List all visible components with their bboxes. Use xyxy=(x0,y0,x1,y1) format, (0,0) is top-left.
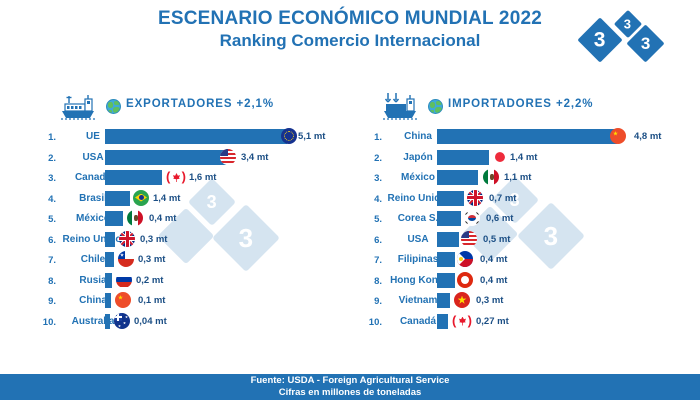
rank: 2. xyxy=(34,153,56,164)
rank: 9. xyxy=(360,296,382,307)
table-row[interactable]: 1. UE 5,1 mt xyxy=(34,128,354,149)
flag-icon-eu xyxy=(281,128,297,144)
value-label: 1,4 mt xyxy=(153,193,180,204)
value-bar xyxy=(437,314,448,329)
logo-digit: 3 xyxy=(594,30,606,51)
value-bar xyxy=(437,170,478,185)
value-label: 0,3 mt xyxy=(138,254,165,265)
flag-icon-jp xyxy=(494,152,505,163)
value-label: 0,7 mt xyxy=(489,193,516,204)
value-label: 1,1 mt xyxy=(504,172,531,183)
value-label: 0,4 mt xyxy=(480,254,507,265)
flag-icon-ph xyxy=(457,251,473,267)
rank: 3. xyxy=(34,173,56,184)
flag-icon-mx xyxy=(127,210,143,226)
importers-header: IMPORTADORES +2,2% xyxy=(362,92,692,124)
flag-icon-kr xyxy=(464,210,480,226)
flag-icon-uk xyxy=(119,231,135,247)
exporters-rows: 1. UE 5,1 mt 2. USA 3,4 mt 3. Canadá () … xyxy=(34,128,354,333)
logo-digit: 3 xyxy=(624,17,631,30)
rank: 6. xyxy=(360,235,382,246)
value-bar xyxy=(437,232,459,247)
table-row[interactable]: 7. Chile 0,3 mt xyxy=(34,251,354,272)
table-row[interactable]: 5. Corea S. 0,6 mt xyxy=(362,210,692,231)
value-label: 4,8 mt xyxy=(634,131,661,142)
value-bar xyxy=(105,252,114,267)
value-bar xyxy=(105,314,110,329)
value-bar xyxy=(437,150,489,165)
table-row[interactable]: 4. Brasil 1,4 mt xyxy=(34,190,354,211)
flag-icon-ru xyxy=(116,272,132,288)
value-bar xyxy=(437,211,461,226)
value-label: 0,4 mt xyxy=(480,275,507,286)
value-bar xyxy=(105,191,130,206)
footer-band: Fuente: USDA - Foreign Agricultural Serv… xyxy=(0,374,700,400)
rank: 2. xyxy=(360,153,382,164)
value-bar xyxy=(105,150,227,165)
rank: 9. xyxy=(34,296,56,307)
table-row[interactable]: 6. USA 0,5 mt xyxy=(362,231,692,252)
flag-icon-us xyxy=(461,231,477,247)
rank: 4. xyxy=(34,194,56,205)
value-bar xyxy=(105,170,162,185)
value-bar xyxy=(437,252,455,267)
table-row[interactable]: 2. Japón 1,4 mt xyxy=(362,149,692,170)
rank: 10. xyxy=(360,317,382,328)
exporters-panel: EXPORTADORES +2,1% 1. UE 5,1 mt 2. USA 3… xyxy=(34,92,354,333)
value-bar xyxy=(437,293,450,308)
table-row[interactable]: 6. Reino Unido 0,3 mt xyxy=(34,231,354,252)
importers-panel: IMPORTADORES +2,2% 1. China 4,8 mt 2. Ja… xyxy=(362,92,692,333)
flag-icon-uk xyxy=(467,190,483,206)
flag-icon-hk xyxy=(457,272,473,288)
value-label: 1,6 mt xyxy=(189,172,216,183)
value-label: 0,6 mt xyxy=(486,213,513,224)
rank: 5. xyxy=(34,214,56,225)
table-row[interactable]: 9. China 0,1 mt xyxy=(34,292,354,313)
infographic-page: ESCENARIO ECONÓMICO MUNDIAL 2022 Ranking… xyxy=(0,0,700,400)
table-row[interactable]: 8. Rusia 0,2 mt xyxy=(34,272,354,293)
value-bar xyxy=(105,129,287,144)
rank: 7. xyxy=(360,255,382,266)
flag-icon-mx xyxy=(483,169,499,185)
table-row[interactable]: 2. USA 3,4 mt xyxy=(34,149,354,170)
footer-note: Cifras en millones de toneladas xyxy=(279,387,422,399)
table-row[interactable]: 1. China 4,8 mt xyxy=(362,128,692,149)
rank: 6. xyxy=(34,235,56,246)
value-label: 0,2 mt xyxy=(136,275,163,286)
importers-title: IMPORTADORES +2,2% xyxy=(448,98,593,110)
rank: 10. xyxy=(34,317,56,328)
cargo-ship-loading-icon xyxy=(58,91,98,121)
brand-logo: 3 3 3 xyxy=(582,10,678,66)
table-row[interactable]: 10. Canadá () 0,27 mt xyxy=(362,313,692,334)
importers-rows: 1. China 4,8 mt 2. Japón 1,4 mt 3. Méxic… xyxy=(362,128,692,333)
value-label: 0,1 mt xyxy=(138,295,165,306)
flag-icon-vn xyxy=(454,292,470,308)
table-row[interactable]: 7. Filipinas 0,4 mt xyxy=(362,251,692,272)
flag-icon-ca: () xyxy=(452,314,472,328)
value-bar xyxy=(437,273,455,288)
flag-icon-cn xyxy=(115,292,131,308)
table-row[interactable]: 4. Reino Unido 0,7 mt xyxy=(362,190,692,211)
rank: 7. xyxy=(34,255,56,266)
flag-icon-au xyxy=(114,313,130,329)
rank: 1. xyxy=(34,132,56,143)
exporters-title: EXPORTADORES +2,1% xyxy=(126,98,274,110)
flag-icon-cl xyxy=(118,251,134,267)
value-label: 0,5 mt xyxy=(483,234,510,245)
globe-icon xyxy=(428,99,443,114)
value-label: 0,3 mt xyxy=(476,295,503,306)
flag-icon-cn xyxy=(610,128,626,144)
rank: 3. xyxy=(360,173,382,184)
value-label: 0,4 mt xyxy=(149,213,176,224)
value-label: 3,4 mt xyxy=(241,152,268,163)
rank: 5. xyxy=(360,214,382,225)
value-bar xyxy=(105,293,111,308)
table-row[interactable]: 10. Australia 0,04 mt xyxy=(34,313,354,334)
value-bar xyxy=(437,191,464,206)
exporters-header: EXPORTADORES +2,1% xyxy=(34,92,354,124)
value-label: 0,27 mt xyxy=(476,316,509,327)
value-label: 1,4 mt xyxy=(510,152,537,163)
value-bar xyxy=(105,211,123,226)
value-bar xyxy=(105,273,112,288)
table-row[interactable]: 3. Canadá () 1,6 mt xyxy=(34,169,354,190)
flag-icon-br xyxy=(133,190,149,206)
value-bar xyxy=(105,232,115,247)
flag-icon-us xyxy=(220,149,236,165)
value-label: 5,1 mt xyxy=(298,131,325,142)
rank: 1. xyxy=(360,132,382,143)
value-label: 0,3 mt xyxy=(140,234,167,245)
table-row[interactable]: 3. México 1,1 mt xyxy=(362,169,692,190)
logo-digit: 3 xyxy=(641,35,650,52)
rank: 8. xyxy=(34,276,56,287)
cargo-ship-unloading-icon xyxy=(380,91,420,121)
table-row[interactable]: 9. Vietnam 0,3 mt xyxy=(362,292,692,313)
globe-icon xyxy=(106,99,121,114)
value-label: 0,04 mt xyxy=(134,316,167,327)
table-row[interactable]: 5. México 0,4 mt xyxy=(34,210,354,231)
footer-source: Fuente: USDA - Foreign Agricultural Serv… xyxy=(251,375,450,387)
flag-icon-ca: () xyxy=(166,170,186,184)
table-row[interactable]: 8. Hong Kong 0,4 mt xyxy=(362,272,692,293)
value-bar xyxy=(437,129,617,144)
